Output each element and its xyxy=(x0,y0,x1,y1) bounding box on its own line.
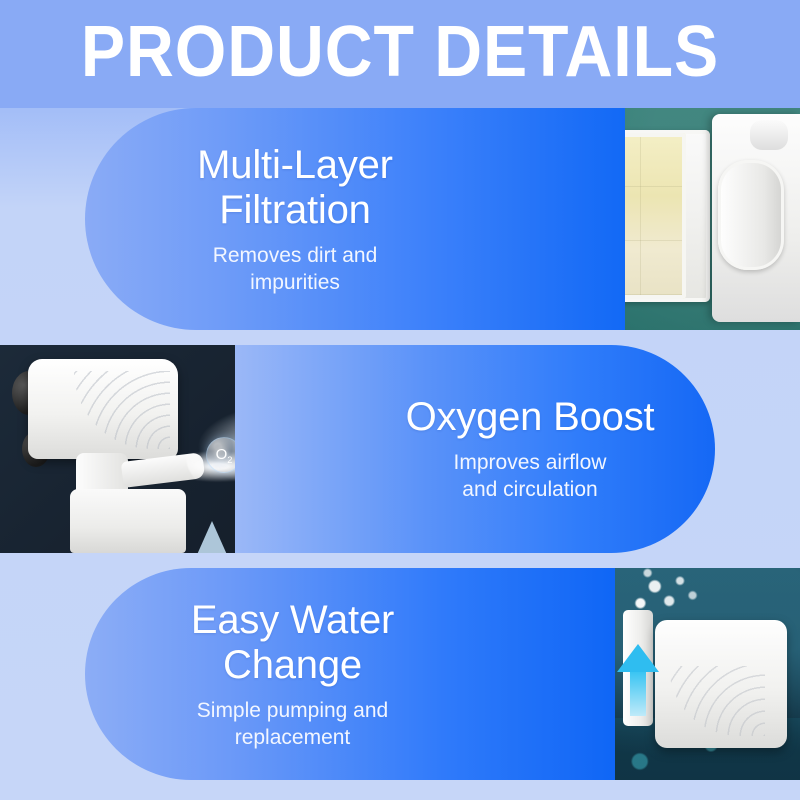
pump-knob xyxy=(750,120,788,150)
feature-subtitle: Removes dirt and impurities xyxy=(213,242,378,296)
feature-subtitle: Improves airflow and circulation xyxy=(454,449,607,503)
page-title: PRODUCT DETAILS xyxy=(32,13,768,91)
feature-card-oxygen: Oxygen Boost Improves airflow and circul… xyxy=(235,345,715,553)
rising-bubbles xyxy=(617,568,707,620)
pump-head xyxy=(28,359,178,459)
oxygen-bubble-label: O2 xyxy=(216,446,233,465)
feature-card-water-change: Easy Water Change Simple pumping and rep… xyxy=(85,568,615,780)
feature-title: Easy Water Change xyxy=(191,598,394,688)
product-details-poster: PRODUCT DETAILS xyxy=(0,0,800,800)
feature-card-filtration: Multi-Layer Filtration Removes dirt and … xyxy=(85,108,625,330)
feature-title: Multi-Layer Filtration xyxy=(197,143,393,233)
feature-panel-multi-layer-filtration: Multi-Layer Filtration Removes dirt and … xyxy=(0,108,800,330)
pump-impeller-housing xyxy=(718,160,784,270)
poster-header: PRODUCT DETAILS xyxy=(0,0,800,108)
spray-cone-marker xyxy=(196,521,228,553)
feature-panel-easy-water-change: Easy Water Change Simple pumping and rep… xyxy=(0,568,800,780)
upward-flow-arrow-icon xyxy=(617,644,659,716)
feature-title: Oxygen Boost xyxy=(406,395,655,440)
feature-panel-oxygen-boost: O2 O2 O2 O2 O2 Oxyge xyxy=(0,345,800,553)
pump-motor-housing xyxy=(655,620,787,748)
feature-subtitle: Simple pumping and replacement xyxy=(197,697,388,751)
pump-base xyxy=(70,489,186,553)
